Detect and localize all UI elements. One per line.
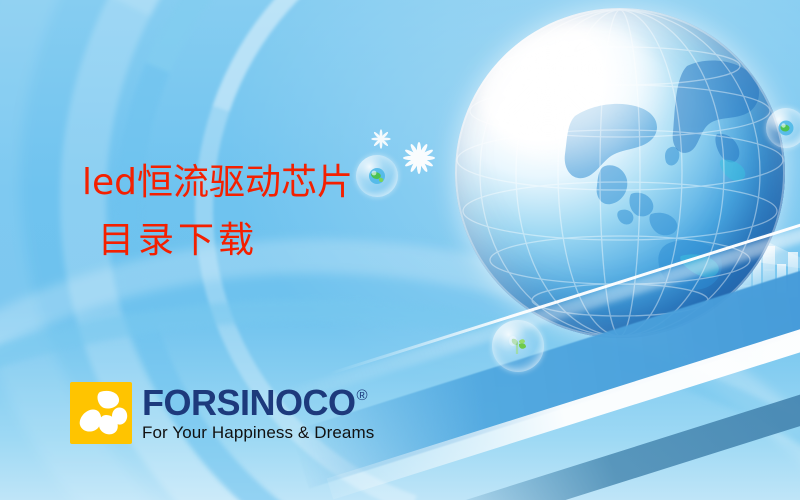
logo-tagline: For Your Happiness & Dreams <box>142 424 374 441</box>
earth-globe-graphic <box>455 8 785 338</box>
globe-sphere <box>455 8 785 338</box>
bubble-globe-edge <box>766 108 800 148</box>
registered-trademark-symbol: ® <box>357 388 368 403</box>
logo-wordmark-text: FORSINOCO <box>142 385 356 421</box>
leaf-icon <box>504 332 532 360</box>
headline-line-1: led恒流驱动芯片 <box>82 163 442 203</box>
bubble-globe-edge-icon <box>776 118 797 139</box>
globe-rim <box>455 8 785 338</box>
logo-text-block: FORSINOCO ® For Your Happiness & Dreams <box>142 385 374 441</box>
headline: led恒流驱动芯片 目录下载 <box>82 163 442 262</box>
promo-banner: led恒流驱动芯片 目录下载 FORSINOCO ® For Your Happ… <box>0 0 800 500</box>
bubble-leaf <box>492 320 544 372</box>
forsinoco-flower-mark-icon <box>70 382 132 444</box>
sparkle-flower-small <box>370 128 392 150</box>
headline-line-2: 目录下载 <box>82 221 442 261</box>
company-logo[interactable]: FORSINOCO ® For Your Happiness & Dreams <box>70 382 374 444</box>
flower-petals-icon <box>70 382 132 444</box>
logo-wordmark: FORSINOCO ® <box>142 385 374 421</box>
